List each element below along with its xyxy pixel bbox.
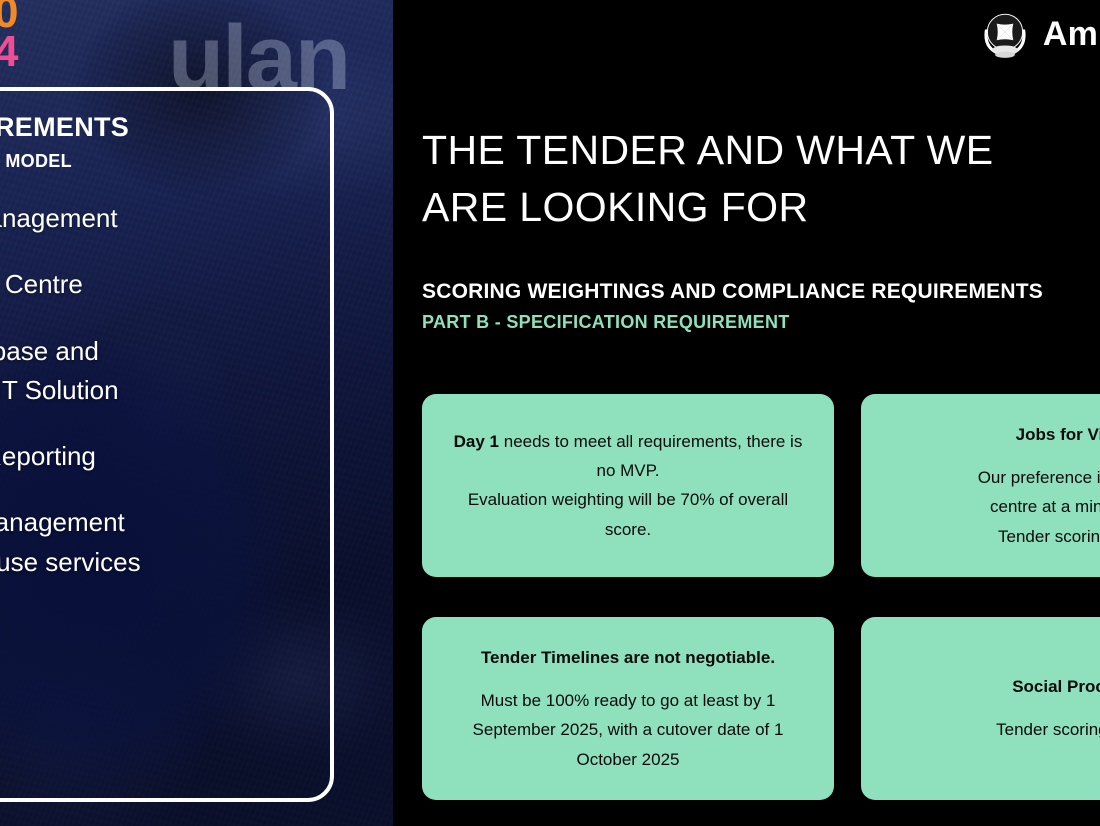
subheading-primary: SCORING WEIGHTINGS AND COMPLIANCE REQUIR… <box>422 280 1100 304</box>
card-social-title: Social Procur <box>883 672 1100 701</box>
card-spacer <box>883 449 1100 463</box>
card-spacer <box>883 701 1100 715</box>
list-item: ancial Reporting <box>0 440 338 473</box>
card-spacer <box>444 672 812 686</box>
page-title: THE TENDER AND WHAT WE ARE LOOKING FOR <box>422 122 1100 235</box>
slide-corner-number: 0 4 <box>0 0 18 71</box>
card-day-one[interactable]: Day 1 needs to meet all requirements, th… <box>422 394 834 577</box>
previous-slide-subtitle: FULL BPO MODEL <box>0 151 338 172</box>
card-timelines-body: Must be 100% ready to go at least by 1 S… <box>444 686 812 774</box>
headline-line-1: THE TENDER AND WHAT WE <box>422 122 1100 179</box>
list-item: ment Management <box>0 506 338 539</box>
previous-slide-content: REQUIREMENTS FULL BPO MODEL ount Managem… <box>0 112 338 612</box>
card-jobs-for-victorians[interactable]: Jobs for Vict Our preference is to ma ce… <box>861 394 1100 577</box>
list-item: M/Database and <box>0 335 338 368</box>
list-item: Mail House services <box>0 546 338 579</box>
headline-line-2: ARE LOOKING FOR <box>422 179 1100 236</box>
card-row-2: Tender Timelines are not negotiable. Mus… <box>422 617 1100 800</box>
previous-slide-title: REQUIREMENTS <box>0 112 338 143</box>
previous-slide-panel[interactable]: ulan 0 4 REQUIREMENTS FULL BPO MODEL oun… <box>0 0 393 826</box>
brand-lockup: Ambu <box>979 8 1100 60</box>
card-social-body: Tender scoring wei <box>883 715 1100 744</box>
brand-name-label: Ambu <box>1043 15 1100 54</box>
card-jobs-body2: centre at a minimum <box>883 492 1100 521</box>
card-social-procurement[interactable]: Social Procur Tender scoring wei <box>861 617 1100 800</box>
card-day-one-title: Day 1 <box>454 432 499 451</box>
card-day-one-body: needs to meet all requirements, there is… <box>499 432 802 480</box>
card-tender-timelines[interactable]: Tender Timelines are not negotiable. Mus… <box>422 617 834 800</box>
corner-number-bottom: 4 <box>0 33 18 72</box>
card-jobs-body3: Tender scoring we <box>883 522 1100 551</box>
card-day-one-body2: Evaluation weighting will be 70% of over… <box>444 485 812 543</box>
card-timelines-title: Tender Timelines are not negotiable. <box>444 643 812 672</box>
card-day-one-text: Day 1 needs to meet all requirements, th… <box>444 427 812 485</box>
list-item: ount Management <box>0 202 338 235</box>
card-jobs-title: Jobs for Vict <box>883 420 1100 449</box>
card-jobs-body: Our preference is to ma <box>883 463 1100 492</box>
ambulance-maltese-cross-emblem-icon <box>979 8 1031 60</box>
slide-stage: ulan 0 4 REQUIREMENTS FULL BPO MODEL oun… <box>0 0 1100 826</box>
subheading-block: SCORING WEIGHTINGS AND COMPLIANCE REQUIR… <box>422 280 1100 333</box>
current-slide-panel[interactable]: Ambu THE TENDER AND WHAT WE ARE LOOKING … <box>393 0 1100 826</box>
list-item: porting IT Solution <box>0 374 338 407</box>
list-item: Contact Centre <box>0 268 338 301</box>
subheading-secondary: PART B - SPECIFICATION REQUIREMENT <box>422 312 1100 333</box>
card-row-1: Day 1 needs to meet all requirements, th… <box>422 394 1100 577</box>
requirements-card-grid: Day 1 needs to meet all requirements, th… <box>422 394 1100 826</box>
previous-slide-requirements-list: ount Management Contact Centre M/Databas… <box>0 202 338 579</box>
